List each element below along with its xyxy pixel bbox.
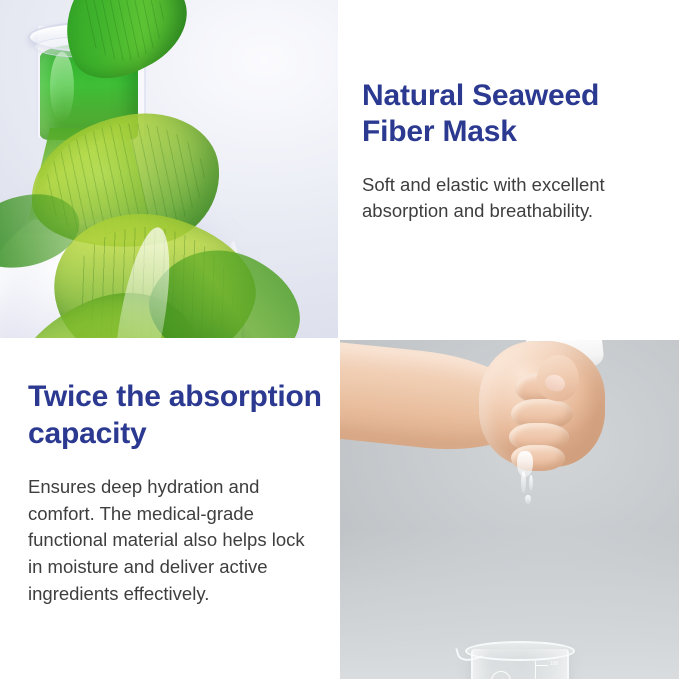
seaweed-scene — [0, 0, 339, 339]
liquid-drip-2 — [529, 475, 533, 491]
feature-one-body: Soft and elastic with excellent absorpti… — [362, 172, 653, 225]
beaker-rim — [465, 641, 575, 661]
feature-two-body: Ensures deep hydration and comfort. The … — [28, 474, 323, 607]
feature-one-panel: Natural Seaweed Fiber Mask Soft and elas… — [339, 0, 679, 339]
beaker-graduations: 100 80 60 40 — [535, 661, 561, 679]
feature-two-heading: Twice the absorption capacity — [28, 379, 323, 452]
liquid-drip-3 — [525, 495, 531, 504]
hand-beaker-image: 100 80 60 40 GG 17 100ml LAB BEAKER — [339, 339, 679, 679]
feature-two-panel: Twice the absorption capacity Ensures de… — [0, 339, 339, 679]
liquid-drip-1 — [521, 471, 526, 493]
beaker-mark-100: 100 — [550, 662, 558, 667]
product-infographic: Natural Seaweed Fiber Mask Soft and elas… — [0, 0, 679, 679]
seaweed-bottle-image — [0, 0, 339, 339]
feature-one-heading: Natural Seaweed Fiber Mask — [362, 78, 653, 150]
